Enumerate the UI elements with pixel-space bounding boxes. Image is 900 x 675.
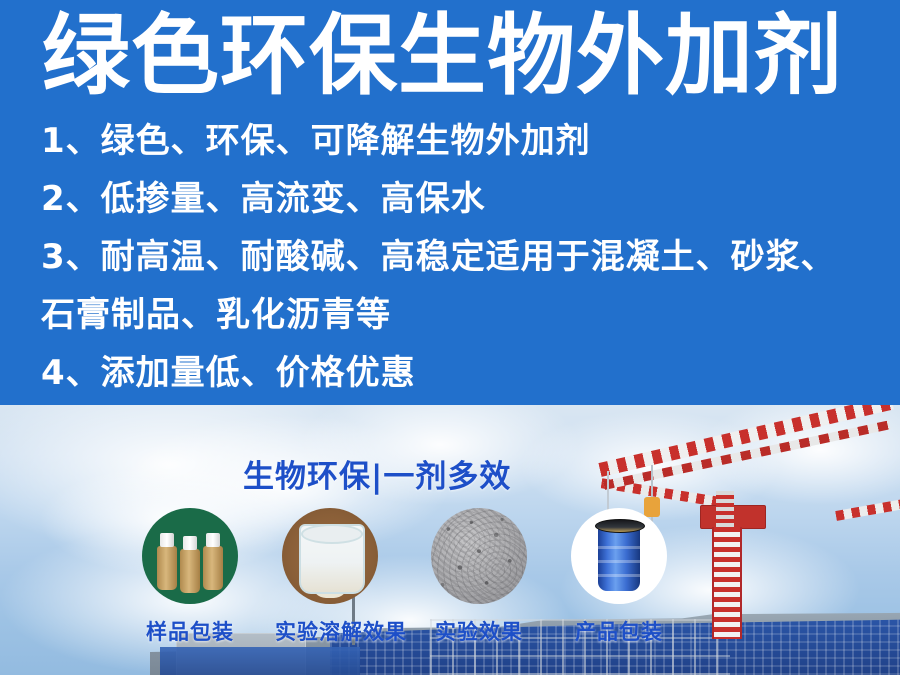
mortar-texture-icon xyxy=(431,508,527,604)
feature-line-4: 4、添加量低、价格优惠 xyxy=(41,344,871,402)
bottle-icon xyxy=(180,549,200,593)
header-panel: 绿色环保生物外加剂 1、绿色、环保、可降解生物外加剂 2、低掺量、高流变、高保水… xyxy=(0,0,900,405)
drum-body xyxy=(598,523,640,591)
drum-rib xyxy=(598,574,640,577)
product-caption: 实验溶解效果 xyxy=(275,620,385,644)
blue-drum-icon xyxy=(571,508,667,604)
product-caption: 样品包装 xyxy=(135,620,245,644)
product-poster: 绿色环保生物外加剂 1、绿色、环保、可降解生物外加剂 2、低掺量、高流变、高保水… xyxy=(0,0,900,675)
tagline: 生物环保|一剂多效 xyxy=(243,459,511,495)
product-item-product-packaging: 产品包装 xyxy=(564,508,674,644)
product-gallery: 样品包装 实验溶解效果 实验效果 产品包装 xyxy=(0,508,900,658)
feature-list: 1、绿色、环保、可降解生物外加剂 2、低掺量、高流变、高保水 3、耐高温、耐酸碱… xyxy=(41,112,871,402)
sample-bottles-icon xyxy=(142,508,238,604)
product-caption: 实验效果 xyxy=(424,620,534,644)
product-caption: 产品包装 xyxy=(564,620,674,644)
feature-line-3: 3、耐高温、耐酸碱、高稳定适用于混凝土、砂浆、 xyxy=(41,228,871,286)
page-title: 绿色环保生物外加剂 xyxy=(42,8,862,104)
product-item-dissolution-test: 实验溶解效果 xyxy=(275,508,385,644)
feature-line-1: 1、绿色、环保、可降解生物外加剂 xyxy=(41,112,871,170)
product-item-test-result: 实验效果 xyxy=(424,508,534,644)
bottle-icon xyxy=(157,546,177,590)
feature-line-2: 2、低掺量、高流变、高保水 xyxy=(41,170,871,228)
beaker-icon xyxy=(282,508,378,604)
beaker-rim xyxy=(301,524,363,544)
bottle-icon xyxy=(203,546,223,590)
drum-rib xyxy=(598,546,640,549)
crane-jib xyxy=(598,405,893,477)
product-item-sample-packaging: 样品包装 xyxy=(135,508,245,644)
drum-lid xyxy=(595,519,645,533)
feature-line-3-continued: 石膏制品、乳化沥青等 xyxy=(41,286,871,344)
drum-rib xyxy=(598,560,640,563)
